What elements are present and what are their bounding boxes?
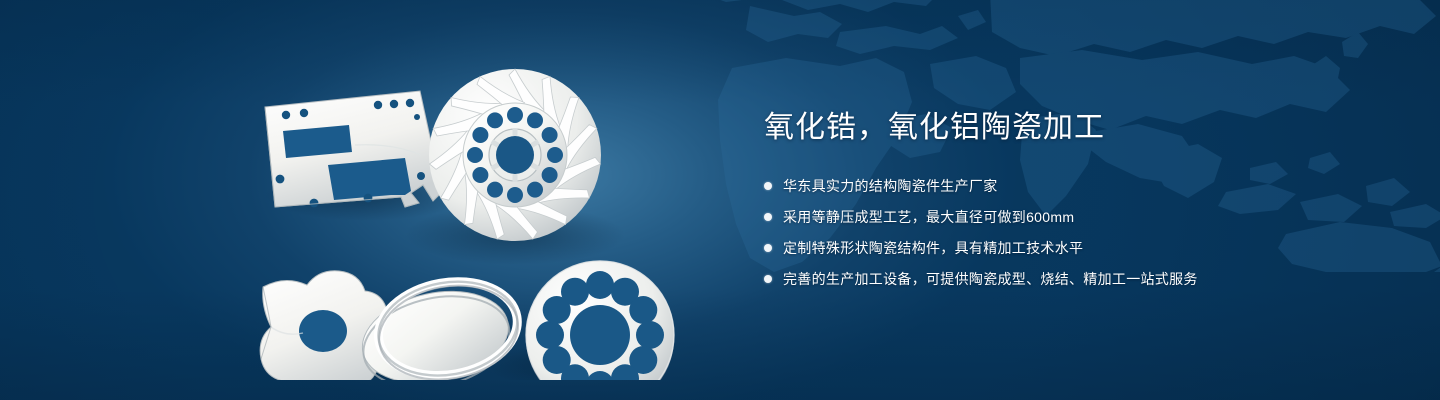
list-item: 采用等静压成型工艺，最大直径可做到600mm <box>764 207 1364 227</box>
banner-headline: 氧化锆，氧化铝陶瓷加工 <box>764 108 1364 148</box>
bullet-dot-icon <box>764 275 772 283</box>
list-item: 华东具实力的结构陶瓷件生产厂家 <box>764 176 1364 196</box>
feature-text: 完善的生产加工设备，可提供陶瓷成型、烧结、精加工一站式服务 <box>783 269 1198 289</box>
feature-text: 华东具实力的结构陶瓷件生产厂家 <box>783 176 998 196</box>
ceramic-processing-banner: 氧化锆，氧化铝陶瓷加工 华东具实力的结构陶瓷件生产厂家 采用等静压成型工艺，最大… <box>0 0 1440 400</box>
ceramic-hole-disc <box>526 261 674 380</box>
banner-copy: 氧化锆，氧化铝陶瓷加工 华东具实力的结构陶瓷件生产厂家 采用等静压成型工艺，最大… <box>764 108 1364 300</box>
bullet-dot-icon <box>764 213 772 221</box>
feature-list: 华东具实力的结构陶瓷件生产厂家 采用等静压成型工艺，最大直径可做到600mm 定… <box>764 176 1364 289</box>
feature-text: 定制特殊形状陶瓷结构件，具有精加工技术水平 <box>783 238 1083 258</box>
bullet-dot-icon <box>764 182 772 190</box>
list-item: 完善的生产加工设备，可提供陶瓷成型、烧结、精加工一站式服务 <box>764 269 1364 289</box>
list-item: 定制特殊形状陶瓷结构件，具有精加工技术水平 <box>764 238 1364 258</box>
bullet-dot-icon <box>764 244 772 252</box>
feature-text: 采用等静压成型工艺，最大直径可做到600mm <box>783 207 1074 227</box>
ceramic-products-photo <box>215 35 725 380</box>
